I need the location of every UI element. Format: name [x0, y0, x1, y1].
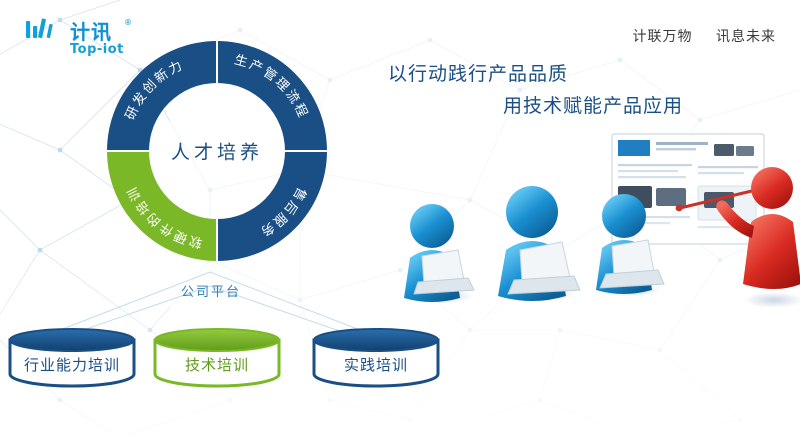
training-scene-illustration	[380, 130, 800, 310]
headline: 以行动践行产品品质 用技术赋能产品应用	[388, 58, 683, 122]
svg-text:售后服务: 售后服务	[256, 185, 310, 241]
cylinder-industry-capability[interactable]: 行业能力培训	[8, 328, 136, 388]
platform-label: 公司平台	[181, 281, 241, 300]
donut-label-production: 生产管理流程	[233, 53, 311, 122]
talent-development-donut: 生产管理流程 售后服务 软硬件的培训 研发创新力 人才培养	[98, 32, 336, 270]
svg-text:软硬件的培训: 软硬件的培训	[124, 183, 204, 250]
cylinder-practical-training[interactable]: 实践培训	[312, 328, 440, 388]
header-slogan-part1: 计联万物	[633, 29, 693, 45]
headline-line-2: 用技术赋能产品应用	[503, 90, 683, 122]
donut-label-training: 软硬件的培训	[124, 183, 204, 250]
svg-text:研发创新力: 研发创新力	[123, 58, 187, 123]
laptop-icon	[414, 250, 474, 294]
audience-figure-icon	[404, 204, 474, 304]
top-iot-logo-icon	[24, 18, 64, 44]
cylinder-label: 行业能力培训	[8, 354, 136, 375]
svg-text:生产管理流程: 生产管理流程	[233, 53, 311, 122]
cylinder-label: 技术培训	[153, 354, 281, 375]
cylinder-label: 实践培训	[312, 354, 440, 375]
donut-label-aftersales: 售后服务	[256, 185, 310, 241]
header-slogan-part2: 讯息未来	[716, 29, 776, 45]
audience-figure-icon	[498, 186, 580, 302]
logo-trademark: ®	[124, 18, 132, 27]
headline-line-1: 以行动践行产品品质	[388, 58, 683, 90]
header-slogan: 计联万物 讯息未来	[633, 26, 776, 46]
donut-center-label: 人才培养	[171, 138, 263, 165]
donut-label-rnd: 研发创新力	[123, 58, 187, 123]
cylinder-technical-training[interactable]: 技术培训	[153, 328, 281, 388]
slide-canvas: 计讯 ® Top-iot 计联万物 讯息未来 以行动践行产品品质 用技术赋能产品…	[0, 0, 800, 438]
